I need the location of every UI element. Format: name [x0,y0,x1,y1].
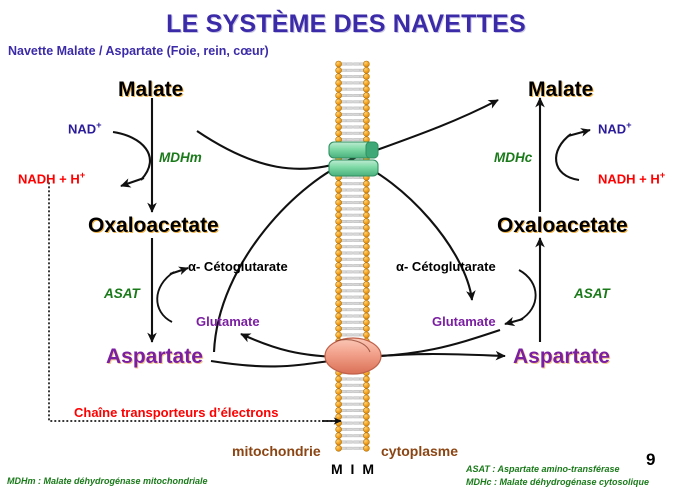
nad-text: NAD [68,121,96,136]
aspartate-glutamate-transporter[interactable] [325,338,381,374]
label-nad-cyto: NAD+ [598,120,632,136]
legend-mdhm: MDHm : Malate déhydrogénase mitochondria… [7,476,208,486]
label-asat-enzyme-cyto: ASAT [574,286,610,301]
arrow-glutamate-to-ketoglutarate-mito [157,272,174,322]
nadh-charge: + [80,170,85,180]
arrow-glutamate-transport-to-matrix [241,330,500,357]
arrow-ketoglutarate-head-mito [170,268,188,274]
nadh-charge-cyto: + [660,170,665,180]
label-aspartate-cyto: Aspartate [513,345,610,369]
label-electron-transport-chain: Chaîne transporteurs d’électrons [74,405,278,420]
nadh-text-cyto: NADH + H [598,171,660,186]
malate-alpha-ketoglutarate-transporter[interactable] [329,142,378,176]
legend-asat: ASAT : Aspartate amino-transférase [466,464,620,474]
label-glutamate-cyto: Glutamate [432,314,496,329]
label-nadh-mito: NADH + H+ [18,170,85,186]
arrow-nad-head-cyto [568,130,590,136]
page-number: 9 [646,450,655,470]
legend-mdhc: MDHc : Malate déhydrogénase cytosolique [466,477,649,487]
label-nad-mito: NAD+ [68,120,102,136]
arrow-aspartate-transport-to-cytosol [211,354,505,366]
label-mdhc-enzyme: MDHc [494,150,532,165]
label-oxaloacetate-cyto: Oxaloacetate [497,214,628,238]
label-glutamate-mito: Glutamate [196,314,260,329]
arrow-nadh-head-mito [121,178,144,186]
label-aspartate-mito: Aspartate [106,345,203,369]
label-malate-mito: Malate [118,78,183,102]
nadh-text: NADH + H [18,171,80,186]
page-subtitle: Navette Malate / Aspartate (Foie, rein, … [8,44,269,58]
label-ketoglutarate-cyto: α- Cétoglutarate [396,259,496,274]
nad-charge-cyto: + [626,120,631,130]
label-nadh-cyto: NADH + H+ [598,170,665,186]
membrane-transporter-layer [0,0,692,498]
inner-mitochondrial-membrane [0,0,692,498]
label-mdhm-enzyme: MDHm [159,150,202,165]
label-malate-cyto: Malate [528,78,593,102]
label-mim: M I M [331,461,376,477]
label-asat-enzyme-mito: ASAT [104,286,140,301]
nad-text-cyto: NAD [598,121,626,136]
label-cytoplasme: cytoplasme [381,443,458,459]
nad-charge: + [96,120,101,130]
arrow-glutamate-head-cyto [505,319,523,324]
arrow-ketoglutarate-to-glutamate-cyto [519,270,536,320]
page-title: LE SYSTÈME DES NAVETTES [0,10,692,39]
arrow-nadh-to-nad-cyto [556,134,579,180]
label-ketoglutarate-mito: α- Cétoglutarate [188,259,288,274]
label-oxaloacetate-mito: Oxaloacetate [88,214,219,238]
label-mitochondrie: mitochondrie [232,443,321,459]
arrow-nad-to-nadh-mito [113,132,150,180]
reaction-arrow-layer [0,0,692,498]
arrow-malate-transport-to-cytosol [197,100,498,169]
